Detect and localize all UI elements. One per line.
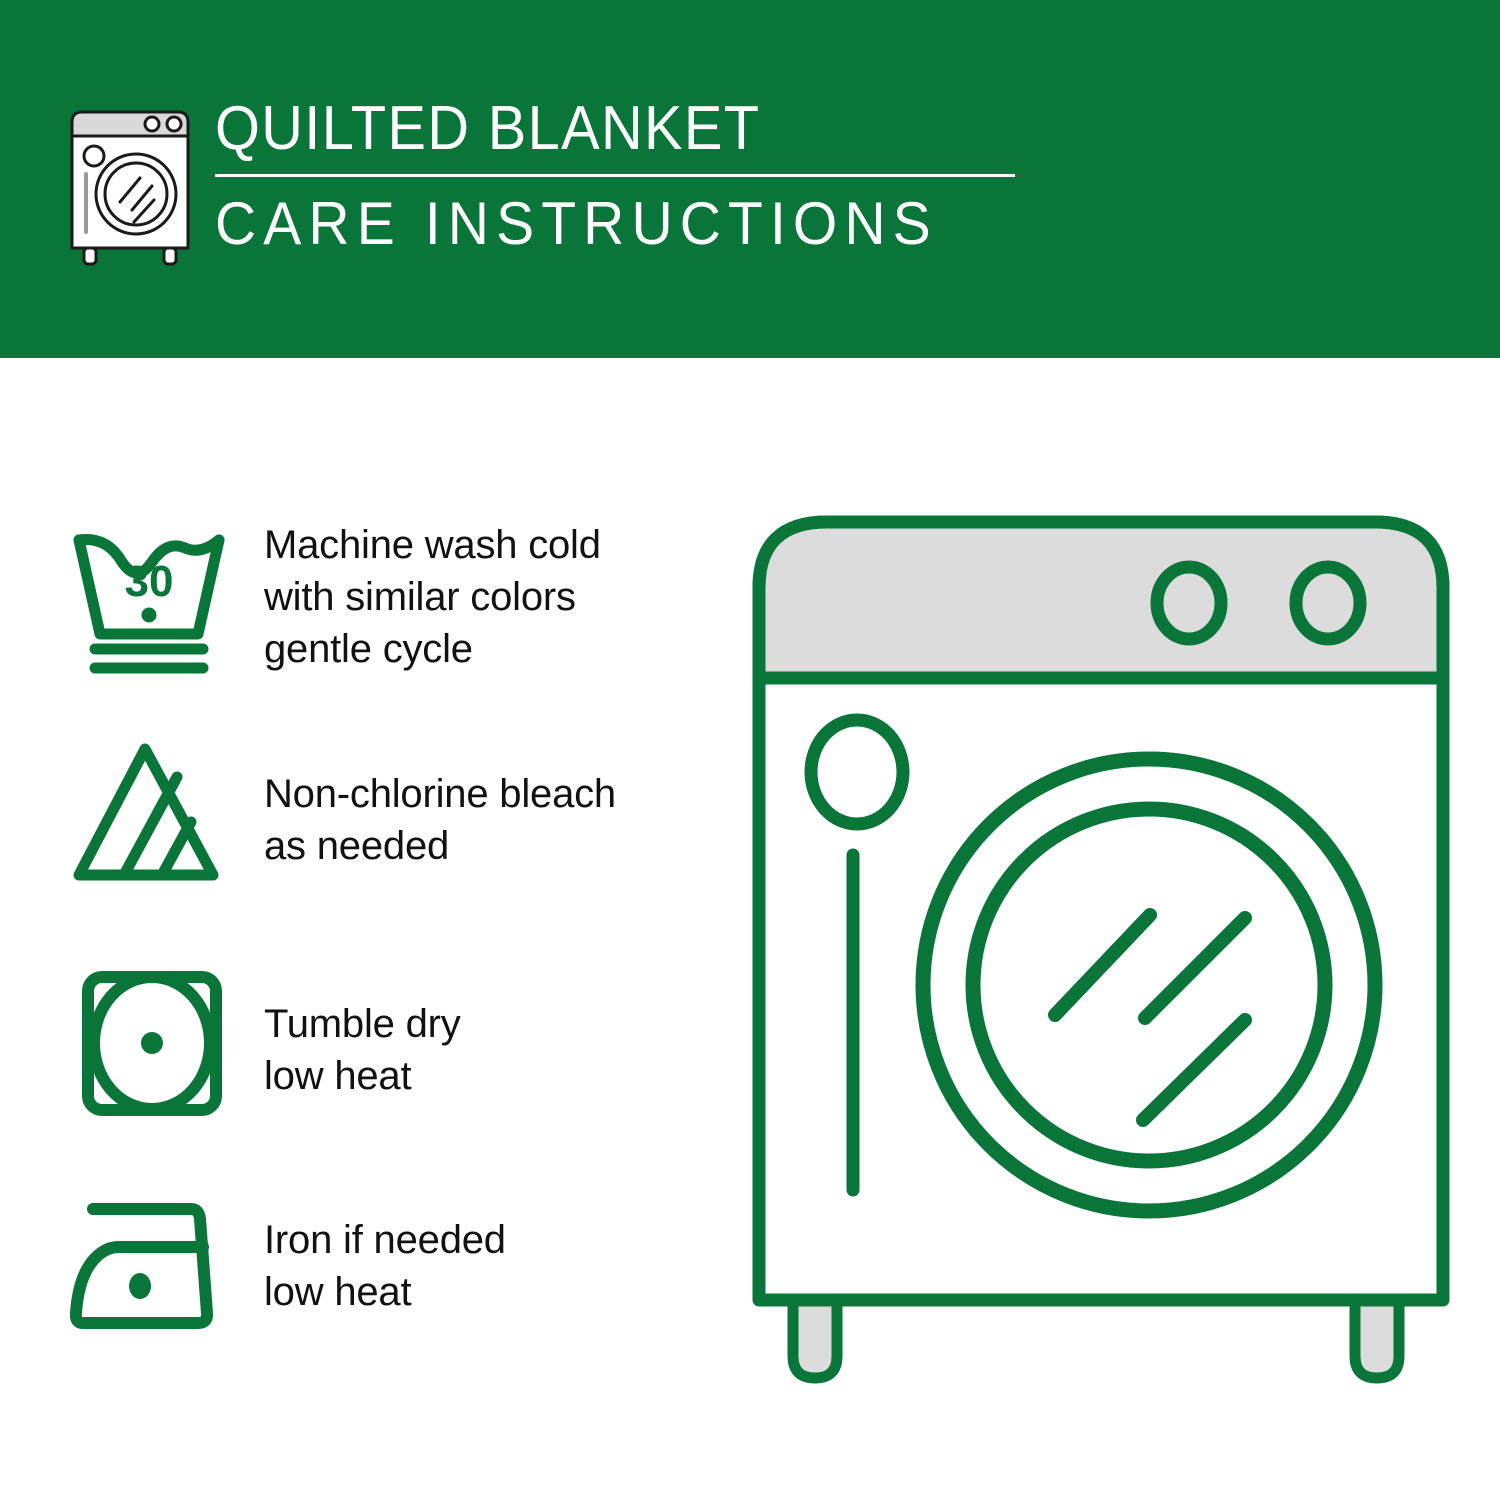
tumble-dry-low-icon	[62, 958, 242, 1128]
care-instruction-list: 30 Machine wash cold with similar colors…	[0, 358, 740, 1500]
washer-dispenser-ring	[811, 720, 903, 824]
care-line: gentle cycle	[264, 623, 601, 675]
care-line: Iron if needed	[264, 1214, 506, 1266]
care-line: low heat	[264, 1050, 461, 1102]
care-line: Machine wash cold	[264, 519, 601, 571]
care-item-machine-wash: 30 Machine wash cold with similar colors…	[0, 513, 740, 683]
care-item-tumble-dry: Tumble dry low heat	[0, 958, 740, 1128]
page-subtitle: CARE INSTRUCTIONS	[215, 194, 994, 254]
header-banner: QUILTED BLANKET CARE INSTRUCTIONS	[0, 0, 1500, 358]
care-item-bleach: Non-chlorine bleach as needed	[0, 728, 740, 898]
washer-knob-2	[1296, 567, 1360, 639]
wash-temperature-label: 30	[125, 557, 174, 606]
care-line: low heat	[264, 1266, 506, 1318]
header-text-group: QUILTED BLANKET CARE INSTRUCTIONS	[215, 98, 1035, 254]
washing-machine-icon	[62, 104, 202, 269]
care-item-label: Tumble dry low heat	[264, 958, 461, 1102]
front-load-washing-machine-illustration	[745, 500, 1465, 1420]
care-line: with similar colors	[264, 571, 601, 623]
care-line: as needed	[264, 820, 616, 872]
care-item-label: Machine wash cold with similar colors ge…	[264, 513, 601, 675]
care-item-iron: Iron if needed low heat	[0, 1178, 740, 1348]
non-chlorine-bleach-triangle-icon	[62, 728, 242, 898]
washer-knob-1	[1157, 567, 1221, 639]
care-item-label: Iron if needed low heat	[264, 1178, 506, 1318]
care-item-label: Non-chlorine bleach as needed	[264, 728, 616, 872]
care-instructions-page: QUILTED BLANKET CARE INSTRUCTIONS 30	[0, 0, 1500, 1500]
care-line: Non-chlorine bleach	[264, 768, 616, 820]
page-title: QUILTED BLANKET	[215, 98, 978, 160]
wash-tub-30-icon: 30	[62, 513, 242, 683]
title-divider	[215, 174, 1015, 177]
care-line: Tumble dry	[264, 998, 461, 1050]
iron-low-heat-icon	[62, 1178, 242, 1348]
